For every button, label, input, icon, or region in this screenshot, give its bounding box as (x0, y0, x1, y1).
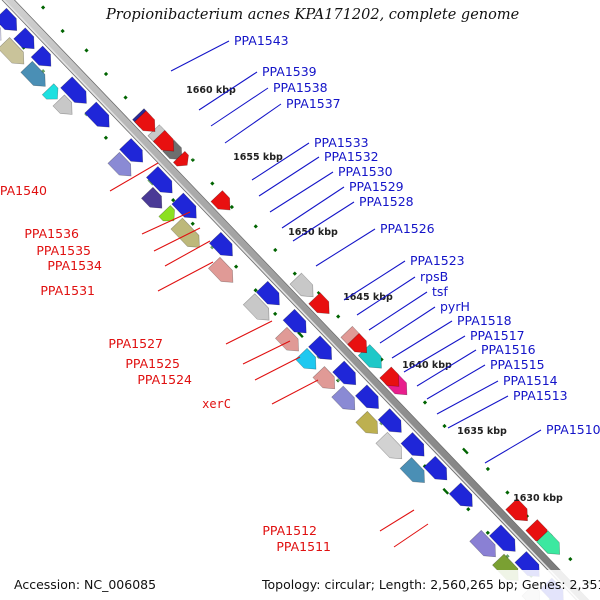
leader-line (226, 321, 272, 344)
gene-forward-outer[interactable] (330, 386, 355, 417)
gene-label-forward[interactable]: PPA1533 (314, 135, 369, 150)
leader-line (225, 104, 281, 143)
trna-tick (274, 313, 276, 315)
trna-tick (255, 225, 257, 227)
leader-line (282, 187, 344, 228)
trna-tick (294, 272, 296, 274)
gene-label-forward[interactable]: PPA1532 (324, 149, 379, 164)
coordinate-ticks: 1660 kbp1655 kbp1650 kbp1645 kbp1640 kbp… (186, 85, 563, 504)
trna-tick (192, 223, 194, 225)
gene-label-forward[interactable]: PPA1529 (349, 179, 404, 194)
trna-tick (337, 315, 339, 317)
trna-tick (125, 96, 127, 98)
genome-map-canvas[interactable]: 1660 kbp1655 kbp1650 kbp1645 kbp1640 kbp… (0, 0, 600, 600)
gene-label-reverse[interactable]: PPA1536 (24, 226, 79, 241)
gene-forward-outer[interactable] (354, 411, 377, 440)
gene-label-reverse[interactable]: PPA1531 (40, 283, 95, 298)
gene-segment[interactable] (356, 411, 378, 433)
leader-line (270, 172, 333, 212)
accession-text: Accession: NC_006085 (14, 577, 156, 592)
gene-label-reverse[interactable]: PPA1527 (108, 336, 163, 351)
leader-line (243, 341, 290, 364)
gene-label-forward[interactable]: PPA1526 (380, 221, 435, 236)
gene-forward-outer[interactable] (398, 457, 424, 489)
trna-tick (42, 6, 44, 8)
trna-tick (443, 425, 445, 427)
trna-tick (105, 73, 107, 75)
gene-label-forward[interactable]: PPA1537 (286, 96, 341, 111)
leader-line (171, 41, 229, 71)
trna-tick (211, 182, 213, 184)
gene-label-reverse[interactable]: PPA1534 (47, 258, 102, 273)
gene-label-forward[interactable]: PPA1516 (481, 342, 536, 357)
gene-segment[interactable] (171, 218, 200, 247)
gene-label-forward[interactable]: PPA1530 (338, 164, 393, 179)
gene-label-forward[interactable]: tsf (432, 284, 448, 299)
trna-tick (231, 206, 233, 208)
gene-segment[interactable] (400, 457, 425, 482)
gene-forward-outer[interactable] (374, 432, 401, 466)
gene-segment[interactable] (208, 257, 233, 282)
axis-tick-label: 1655 kbp (233, 152, 283, 163)
trna-tick (569, 558, 571, 560)
gene-label-forward[interactable]: PPA1513 (513, 388, 568, 403)
axis-tick-label: 1630 kbp (513, 493, 563, 504)
trna-tick (487, 532, 489, 534)
page-title: Propionibacterium acnes KPA171202, compl… (105, 7, 519, 23)
leader-line (380, 307, 435, 343)
gene-label-forward[interactable]: PPA1517 (470, 328, 525, 343)
gene-label-forward[interactable]: PPA1528 (359, 194, 414, 209)
trna-tick (62, 30, 64, 32)
leader-line (158, 262, 213, 291)
axis-tick-label: 1645 kbp (343, 292, 393, 303)
gene-label-forward[interactable]: PPA1539 (262, 64, 317, 79)
gene-forward-outer[interactable] (157, 205, 174, 227)
gene-label-forward[interactable]: PPA1510 (546, 422, 600, 437)
leader-line (448, 396, 508, 428)
gene-label-forward[interactable]: pyrH (440, 299, 470, 314)
gene-label-forward[interactable]: PPA1518 (457, 313, 512, 328)
leader-line (380, 510, 414, 531)
trna-tick (274, 249, 276, 251)
gene-label-forward[interactable]: rpsB (420, 269, 448, 284)
leader-line (392, 321, 452, 358)
gene-forward-outer[interactable] (19, 61, 45, 93)
gene-label-reverse[interactable]: PPA1525 (125, 356, 180, 371)
gene-label-forward[interactable]: PPA1515 (490, 357, 545, 372)
trna-tick (105, 137, 107, 139)
axis-tick-label: 1635 kbp (457, 426, 507, 437)
leader-line (394, 524, 428, 547)
gene-label-forward[interactable]: PPA1523 (410, 253, 465, 268)
gene-forward-outer[interactable] (41, 84, 58, 106)
trna-tick (463, 449, 468, 454)
trna-tick (424, 401, 426, 403)
gene-label-forward[interactable]: PPA1514 (503, 373, 558, 388)
genome-map-viewer: 1660 kbp1655 kbp1650 kbp1645 kbp1640 kbp… (0, 0, 600, 600)
gene-segment[interactable] (313, 366, 335, 388)
gene-label-reverse[interactable]: PPA1524 (137, 372, 192, 387)
gene-label-reverse[interactable]: PPA1540 (0, 183, 47, 198)
trna-tick (487, 468, 489, 470)
trna-tick (235, 266, 237, 268)
leader-line (255, 357, 300, 380)
gene-label-forward[interactable]: PPA1538 (273, 80, 328, 95)
trna-tick (506, 491, 508, 493)
trna-tick (467, 508, 469, 510)
topology-text: Topology: circular; Length: 2,560,265 bp… (262, 577, 600, 592)
gene-segment[interactable] (332, 386, 355, 410)
gene-segment[interactable] (376, 432, 402, 459)
leader-line (437, 381, 498, 414)
trna-tick (443, 489, 448, 494)
trna-tick (85, 49, 87, 51)
trna-tick (172, 199, 174, 201)
footer-bar: Accession: NC_006085 Topology: circular;… (0, 570, 600, 600)
gene-label-reverse[interactable]: PPA1512 (262, 523, 317, 538)
label-leader-lines (110, 41, 541, 547)
gene-label-reverse[interactable]: xerC (202, 397, 231, 411)
gene-label-reverse[interactable]: PPA1511 (276, 539, 331, 554)
trna-tick (255, 289, 257, 291)
leader-line (272, 380, 318, 404)
gene-forward-outer[interactable] (207, 257, 233, 289)
gene-label-reverse[interactable]: PPA1535 (36, 243, 91, 258)
gene-label-forward[interactable]: PPA1543 (234, 33, 289, 48)
